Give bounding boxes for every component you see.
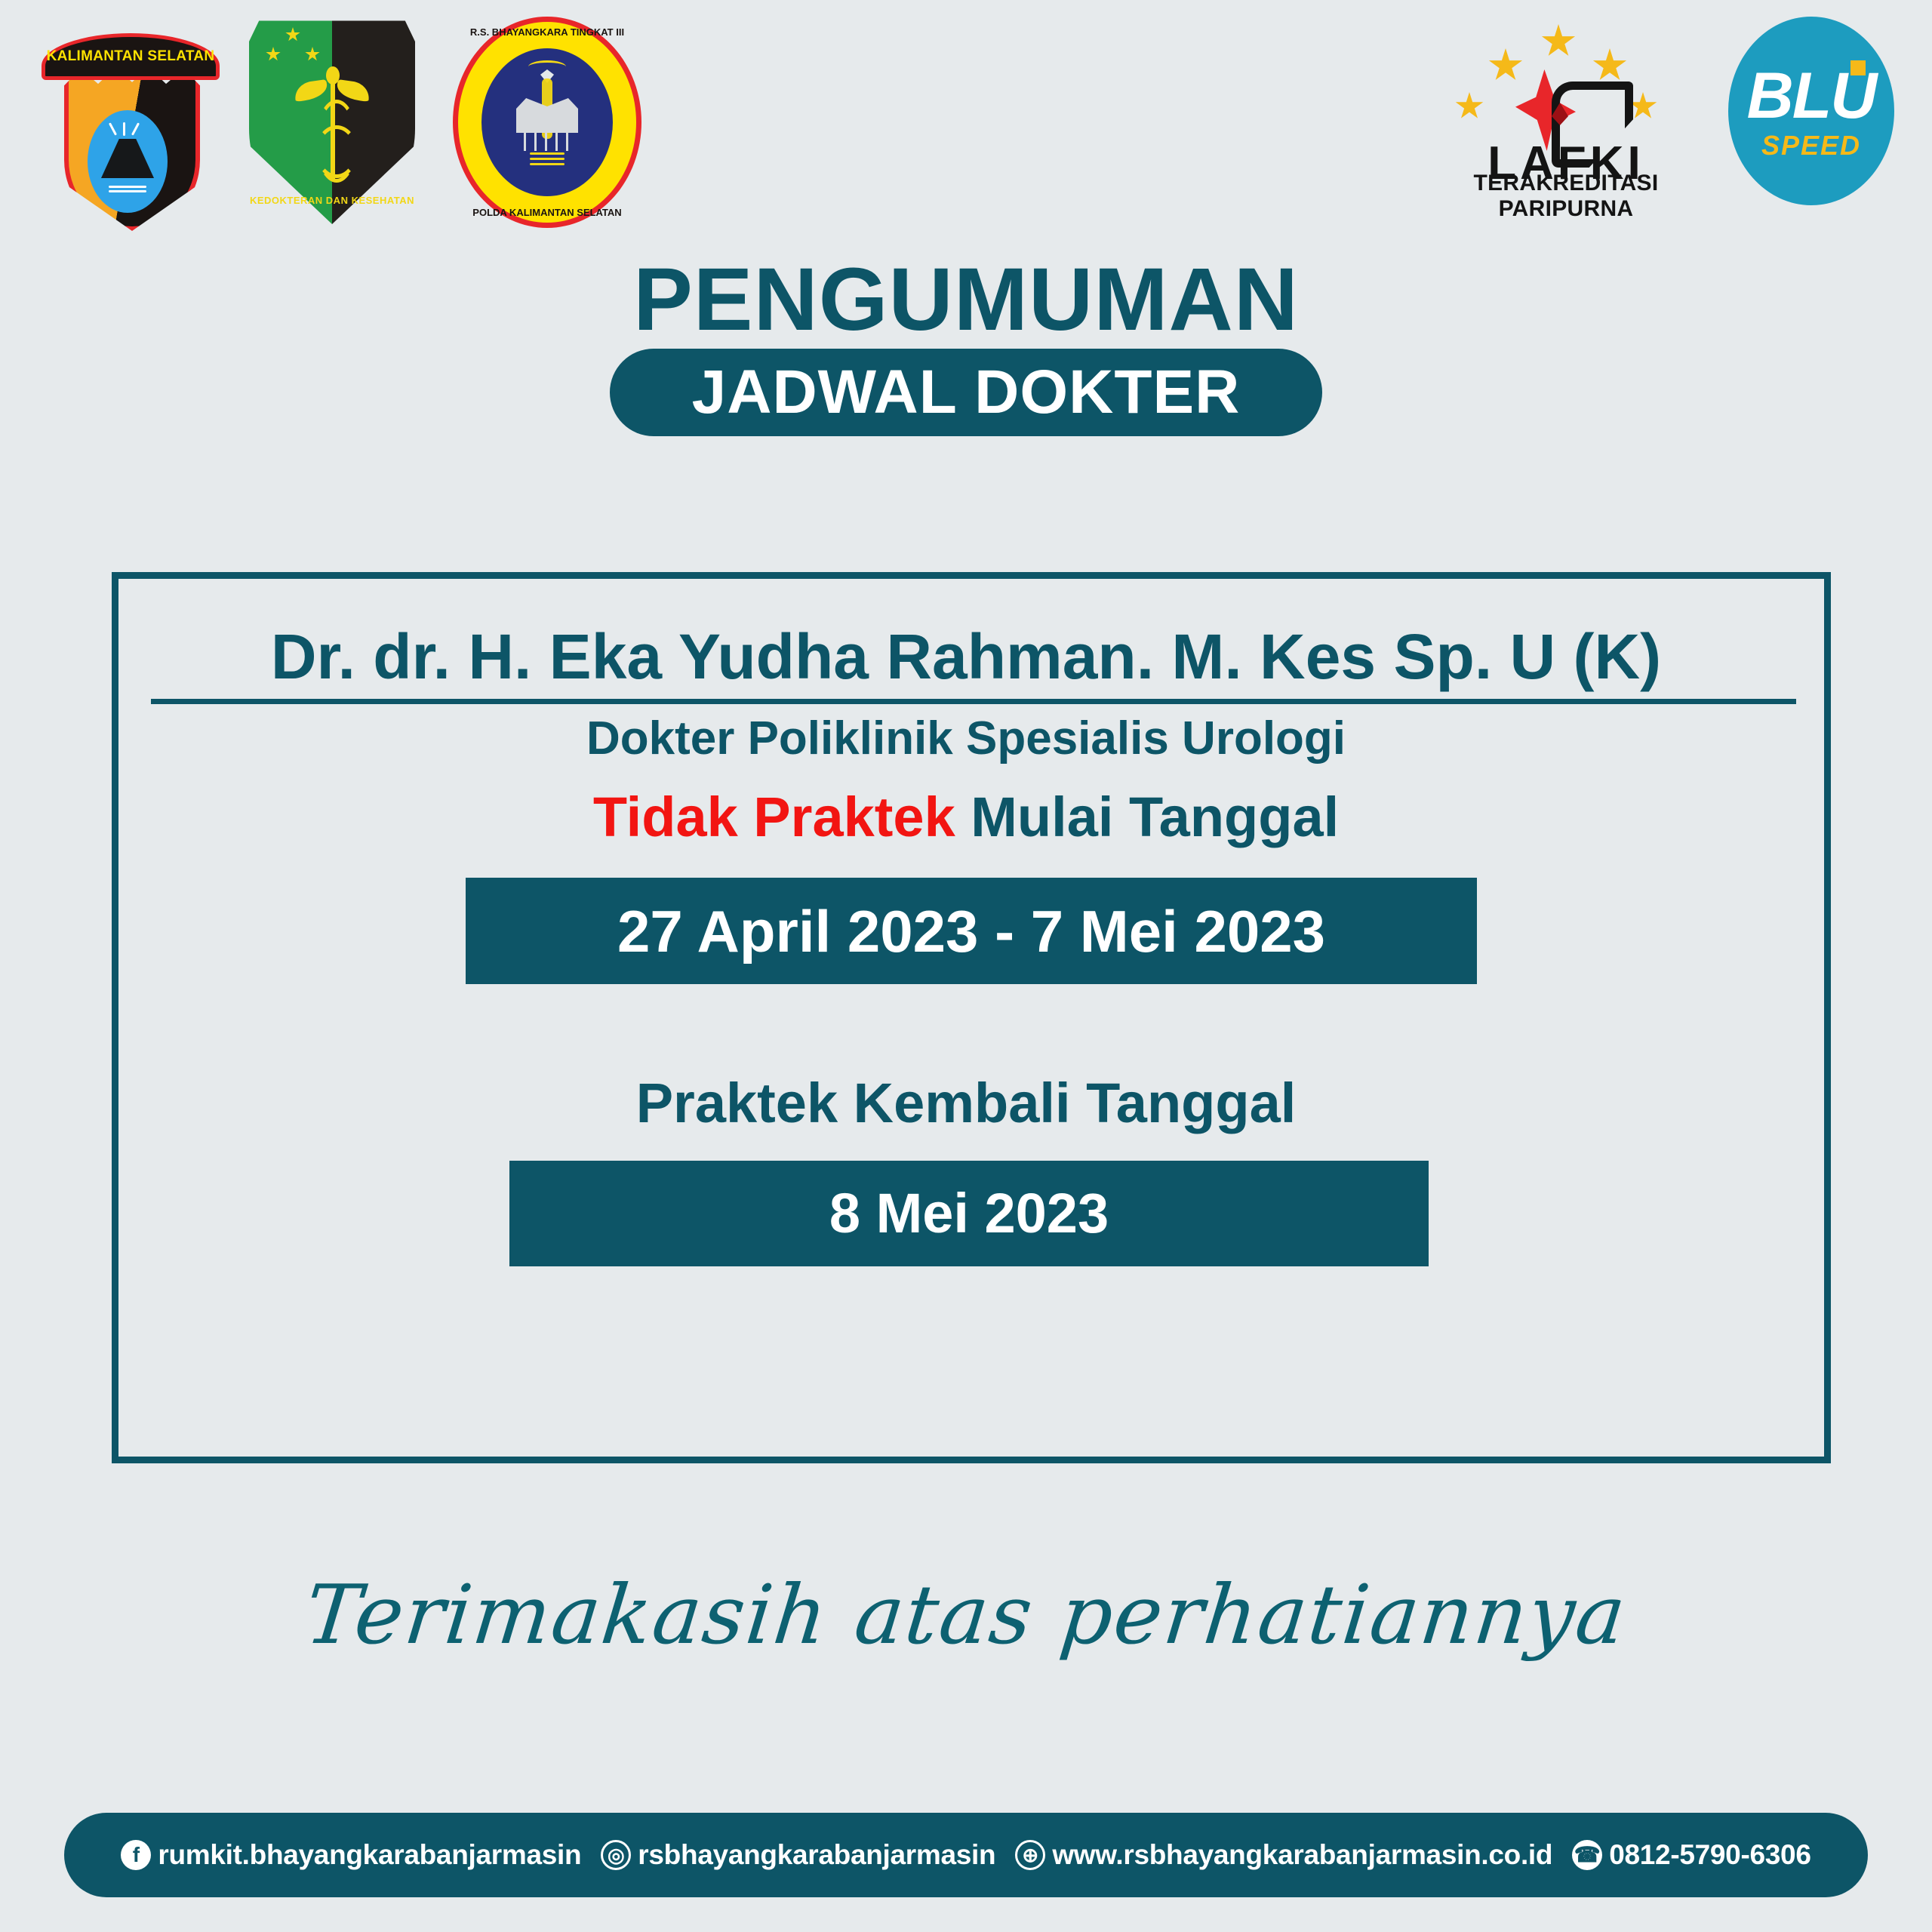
contact-phone-label: 0812-5790-6306	[1609, 1839, 1810, 1871]
subtitle-pill-label: JADWAL DOKTER	[692, 361, 1241, 423]
absence-suffix: Mulai Tanggal	[955, 786, 1339, 848]
rs-emblem	[506, 57, 589, 171]
house-legs	[521, 131, 574, 151]
kedokteran-kesehatan-logo: KEDOKTERAN DAN KESEHATAN	[249, 17, 415, 224]
logo-row: KALIMANTAN SELATAN KEDOKTERAN DAN KESEHA…	[0, 0, 1932, 249]
polri-banner: KALIMANTAN SELATAN	[42, 33, 220, 80]
doctor-specialty: Dokter Poliklinik Spesialis Urologi	[0, 715, 1932, 762]
contact-phone[interactable]: ☎ 0812-5790-6306	[1572, 1839, 1810, 1871]
contact-website[interactable]: ⊕ www.rsbhayangkarabanjarmasin.co.id	[1015, 1839, 1552, 1871]
lafki-logo: LAFKI TERAKREDITASI PARIPURNA	[1419, 23, 1713, 226]
return-date-box: 8 Mei 2023	[509, 1161, 1429, 1266]
polri-banner-label: KALIMANTAN SELATAN	[47, 48, 215, 65]
facebook-icon: f	[121, 1840, 151, 1870]
footer-contact-bar: f rumkit.bhayangkarabanjarmasin ◎ rsbhay…	[64, 1813, 1868, 1897]
blu-accent-dot	[1850, 60, 1866, 75]
contact-facebook-label: rumkit.bhayangkarabanjarmasin	[158, 1839, 581, 1871]
rs-bhayangkara-logo: R.S. BHAYANGKARA TINGKAT III POLDA KALIM…	[453, 17, 641, 228]
contact-instagram[interactable]: ◎ rsbhayangkarabanjarmasin	[601, 1839, 995, 1871]
return-label: Praktek Kembali Tanggal	[0, 1075, 1932, 1131]
caduceus-icon	[296, 56, 368, 184]
absence-label: Tidak Praktek Mulai Tanggal	[0, 789, 1932, 845]
lafki-subtitle: TERAKREDITASI PARIPURNA	[1419, 171, 1713, 222]
absence-date-range: 27 April 2023 - 7 Mei 2023	[617, 902, 1325, 961]
announcement-poster: KALIMANTAN SELATAN KEDOKTERAN DAN KESEHA…	[0, 0, 1932, 1932]
water-waves-icon	[530, 152, 565, 168]
absence-highlight: Tidak Praktek	[593, 786, 955, 848]
ray-icon	[109, 122, 117, 135]
contact-website-label: www.rsbhayangkarabanjarmasin.co.id	[1052, 1839, 1552, 1871]
doctor-name: Dr. dr. H. Eka Yudha Rahman. M. Kes Sp. …	[0, 625, 1932, 688]
star-icon	[1541, 24, 1576, 59]
ray-icon	[123, 122, 125, 136]
instagram-icon: ◎	[601, 1840, 631, 1870]
announcement-frame	[112, 572, 1831, 1463]
kedokteran-arc-label: KEDOKTERAN DAN KESEHATAN	[249, 195, 415, 206]
rs-arc-top-label: R.S. BHAYANGKARA TINGKAT III	[453, 26, 641, 38]
website-icon: ⊕	[1015, 1840, 1045, 1870]
blu-title: BLU	[1728, 63, 1894, 128]
polri-kalsel-logo: KALIMANTAN SELATAN	[42, 15, 223, 226]
phone-icon: ☎	[1572, 1840, 1602, 1870]
return-date: 8 Mei 2023	[829, 1186, 1109, 1241]
blu-subtitle: SPEED	[1728, 130, 1894, 162]
water-waves-icon	[109, 186, 146, 196]
blu-speed-logo: BLU SPEED	[1728, 17, 1894, 205]
star-icon	[1455, 92, 1484, 121]
page-title: PENGUMUMAN	[0, 255, 1932, 344]
ray-icon	[131, 122, 140, 135]
subtitle-pill: JADWAL DOKTER	[610, 349, 1322, 436]
contact-facebook[interactable]: f rumkit.bhayangkarabanjarmasin	[121, 1839, 581, 1871]
rs-arc-bottom-label: POLDA KALIMANTAN SELATAN	[453, 207, 641, 218]
thanks-message: Terimakasih atas perhatiannya	[0, 1555, 1932, 1677]
contact-instagram-label: rsbhayangkarabanjarmasin	[638, 1839, 995, 1871]
doctor-name-underline	[151, 699, 1796, 704]
absence-date-box: 27 April 2023 - 7 Mei 2023	[466, 878, 1477, 984]
polri-oval	[88, 110, 168, 213]
